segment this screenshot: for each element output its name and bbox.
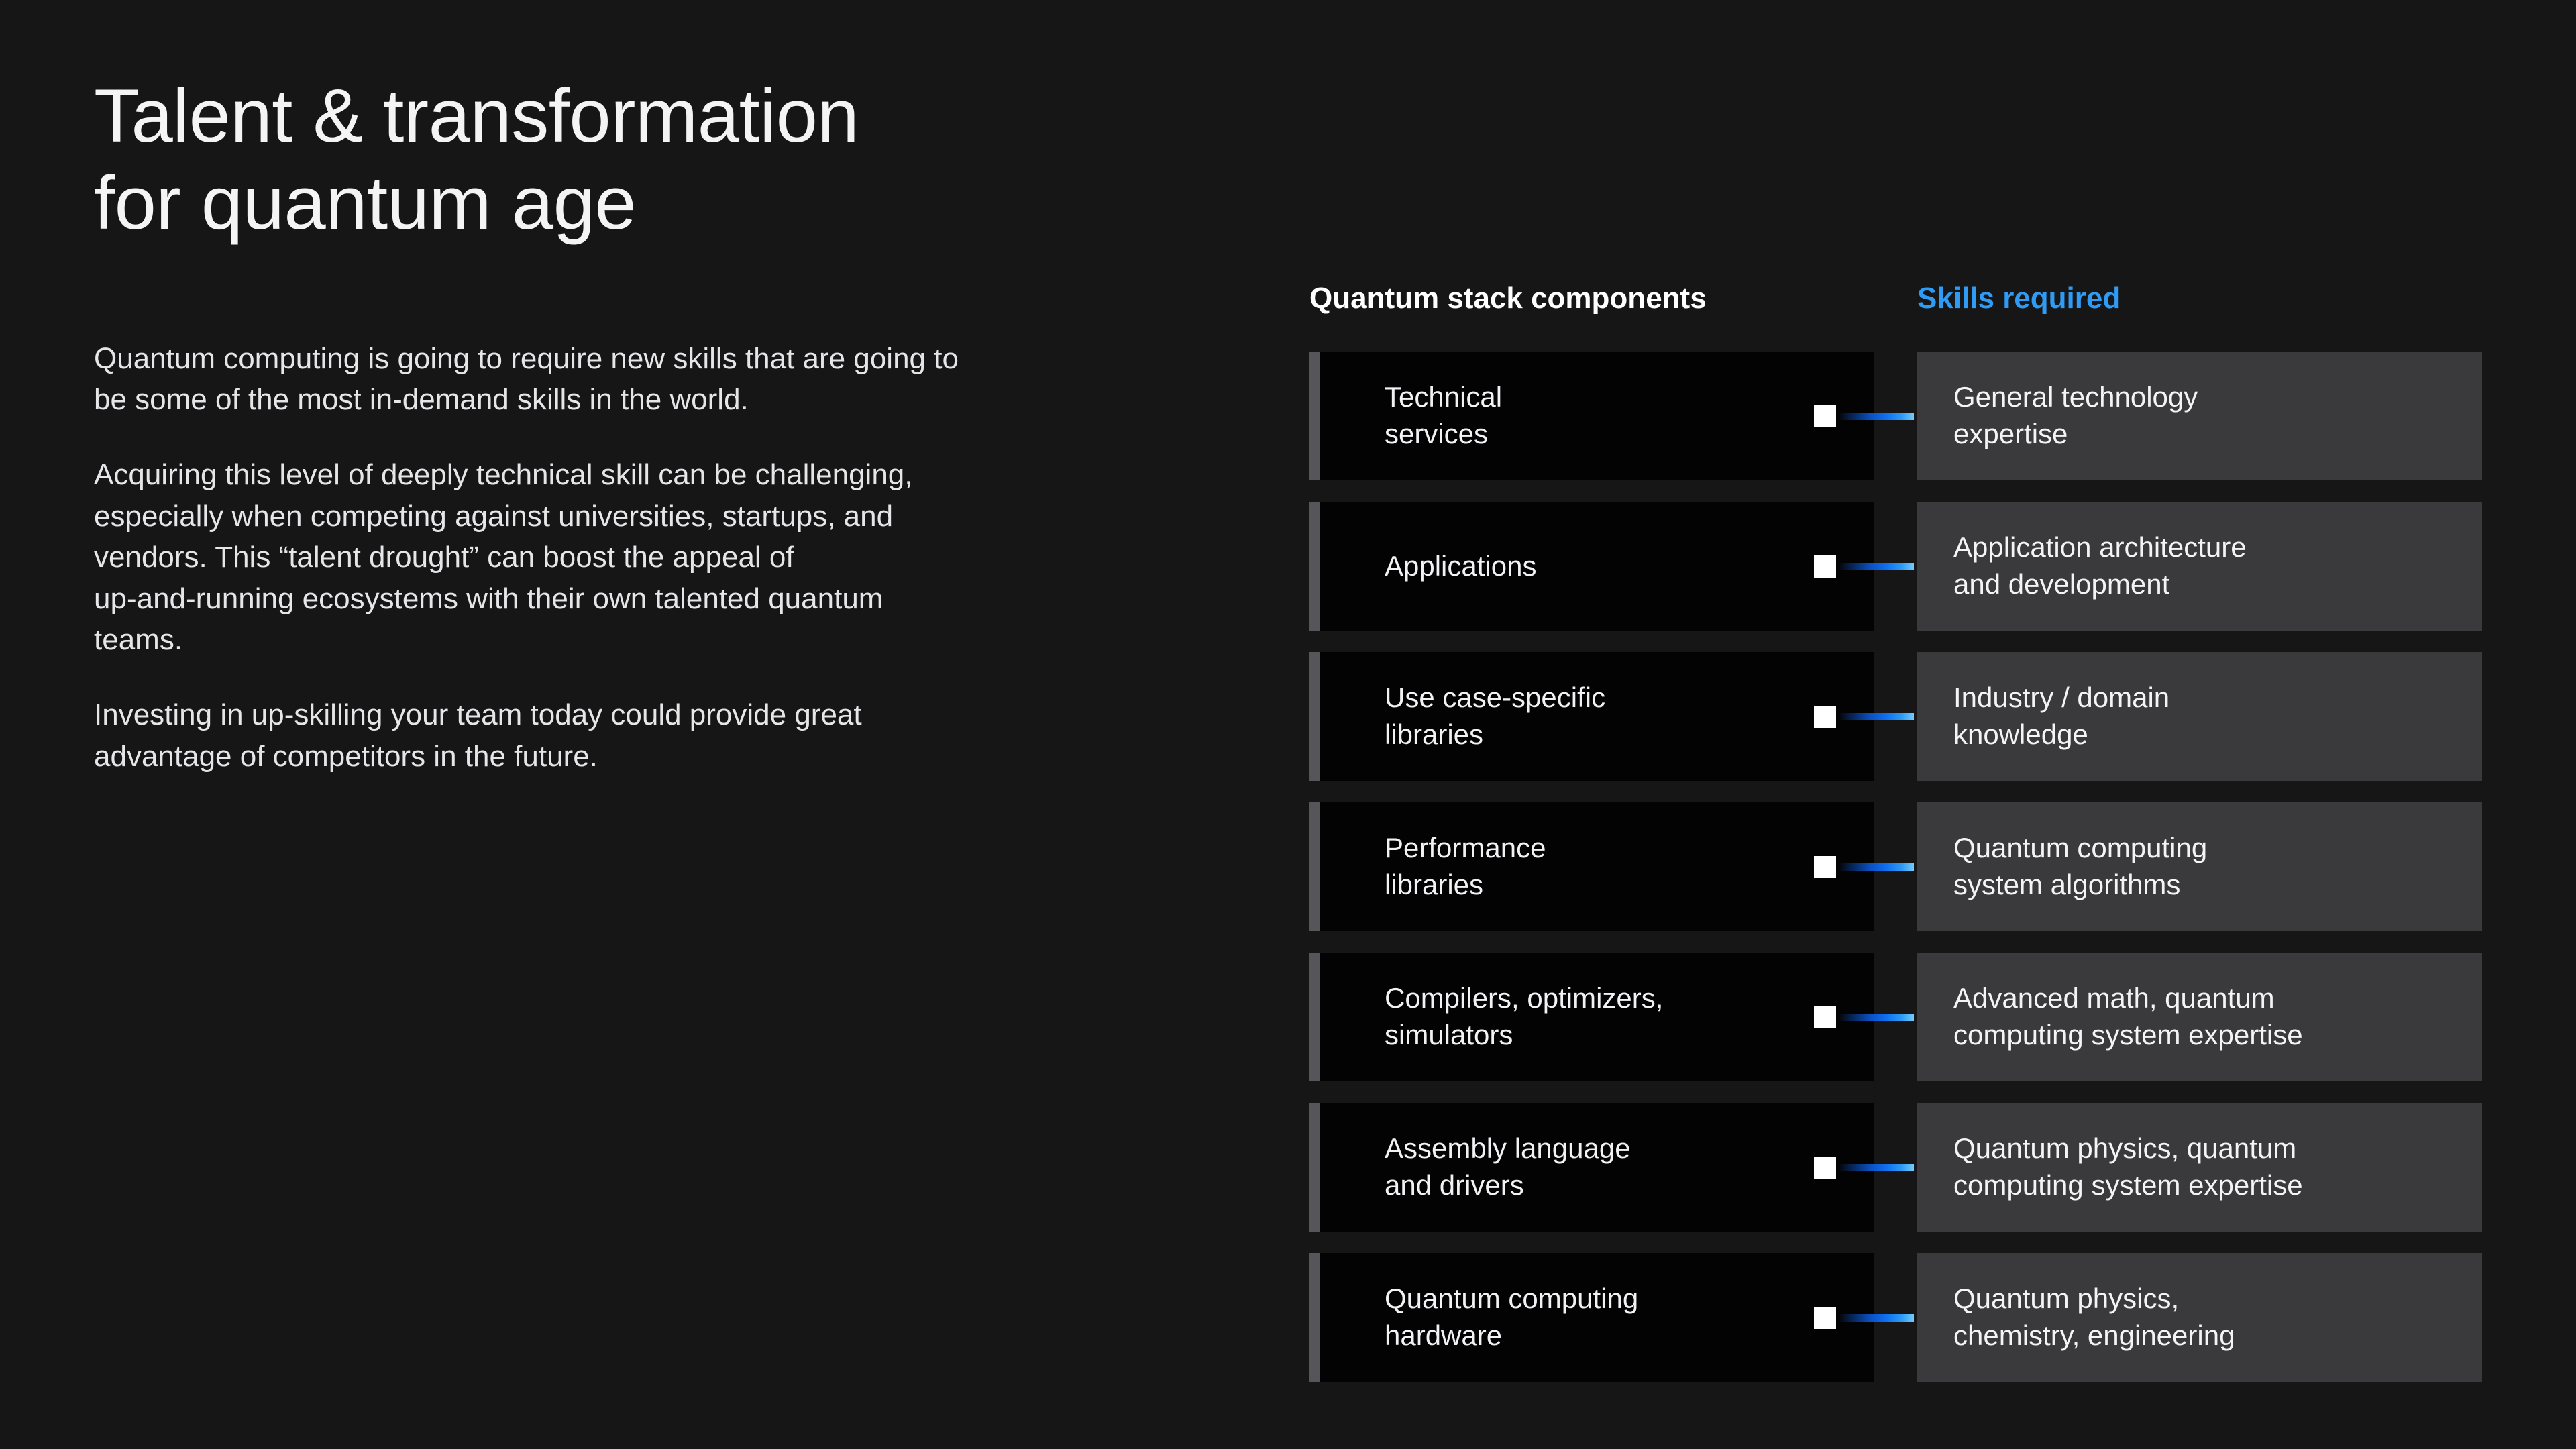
body-paragraph-1: Quantum computing is going to require ne… <box>94 338 1046 421</box>
stack-component-card[interactable]: Performance libraries <box>1309 802 1874 931</box>
diagram-row: Applications Application architecture an… <box>1309 502 2490 631</box>
skill-label: Industry / domain knowledge <box>1953 680 2169 753</box>
stack-skills-diagram: Quantum stack components Skills required… <box>1309 282 2490 1395</box>
stack-component-label: Applications <box>1385 548 1536 585</box>
stack-component-label: Assembly language and drivers <box>1385 1130 1631 1203</box>
stack-component-card[interactable]: Technical services <box>1309 352 1874 480</box>
skill-card[interactable]: General technology expertise <box>1917 352 2482 480</box>
slide-canvas: Talent & transformation for quantum age … <box>0 0 2576 1449</box>
diagram-column-headers: Quantum stack components Skills required <box>1309 282 2490 335</box>
skill-label: Quantum computing system algorithms <box>1953 830 2207 903</box>
page-title-line-1: Talent & transformation <box>94 72 1140 160</box>
stack-component-label: Use case-specific libraries <box>1385 680 1605 753</box>
page-title: Talent & transformation for quantum age <box>94 72 1140 247</box>
column-header-skills-required: Skills required <box>1917 282 2121 315</box>
stack-component-card[interactable]: Compilers, optimizers, simulators <box>1309 953 1874 1081</box>
skill-card[interactable]: Advanced math, quantum computing system … <box>1917 953 2482 1081</box>
diagram-row: Technical services General technology ex… <box>1309 352 2490 480</box>
stack-component-label: Quantum computing hardware <box>1385 1281 1638 1354</box>
skill-card[interactable]: Quantum physics, quantum computing syste… <box>1917 1103 2482 1232</box>
diagram-rows: Technical services General technology ex… <box>1309 352 2490 1382</box>
left-content-column: Talent & transformation for quantum age … <box>94 72 1140 777</box>
skill-label: Advanced math, quantum computing system … <box>1953 980 2303 1053</box>
stack-component-label: Compilers, optimizers, simulators <box>1385 980 1663 1053</box>
stack-component-card[interactable]: Applications <box>1309 502 1874 631</box>
skill-label: Quantum physics, chemistry, engineering <box>1953 1281 2235 1354</box>
stack-component-card[interactable]: Quantum computing hardware <box>1309 1253 1874 1382</box>
body-paragraph-3: Investing in up-skilling your team today… <box>94 694 1046 777</box>
skill-label: General technology expertise <box>1953 379 2198 452</box>
body-paragraph-2: Acquiring this level of deeply technical… <box>94 454 1046 661</box>
stack-component-label: Performance libraries <box>1385 830 1546 903</box>
body-copy: Quantum computing is going to require ne… <box>94 338 1046 777</box>
skill-label: Application architecture and development <box>1953 529 2247 602</box>
stack-component-label: Technical services <box>1385 379 1502 452</box>
stack-component-card[interactable]: Assembly language and drivers <box>1309 1103 1874 1232</box>
skill-card[interactable]: Quantum physics, chemistry, engineering <box>1917 1253 2482 1382</box>
skill-label: Quantum physics, quantum computing syste… <box>1953 1130 2303 1203</box>
skill-card[interactable]: Industry / domain knowledge <box>1917 652 2482 781</box>
diagram-row: Assembly language and drivers Quantum ph… <box>1309 1103 2490 1232</box>
column-header-quantum-stack-components: Quantum stack components <box>1309 282 1707 315</box>
skill-card[interactable]: Quantum computing system algorithms <box>1917 802 2482 931</box>
diagram-row: Use case-specific libraries Industry / d… <box>1309 652 2490 781</box>
diagram-row: Compilers, optimizers, simulators Advanc… <box>1309 953 2490 1081</box>
page-title-line-2: for quantum age <box>94 160 1140 247</box>
diagram-row: Quantum computing hardware Quantum physi… <box>1309 1253 2490 1382</box>
skill-card[interactable]: Application architecture and development <box>1917 502 2482 631</box>
stack-component-card[interactable]: Use case-specific libraries <box>1309 652 1874 781</box>
diagram-row: Performance libraries Quantum computing … <box>1309 802 2490 931</box>
